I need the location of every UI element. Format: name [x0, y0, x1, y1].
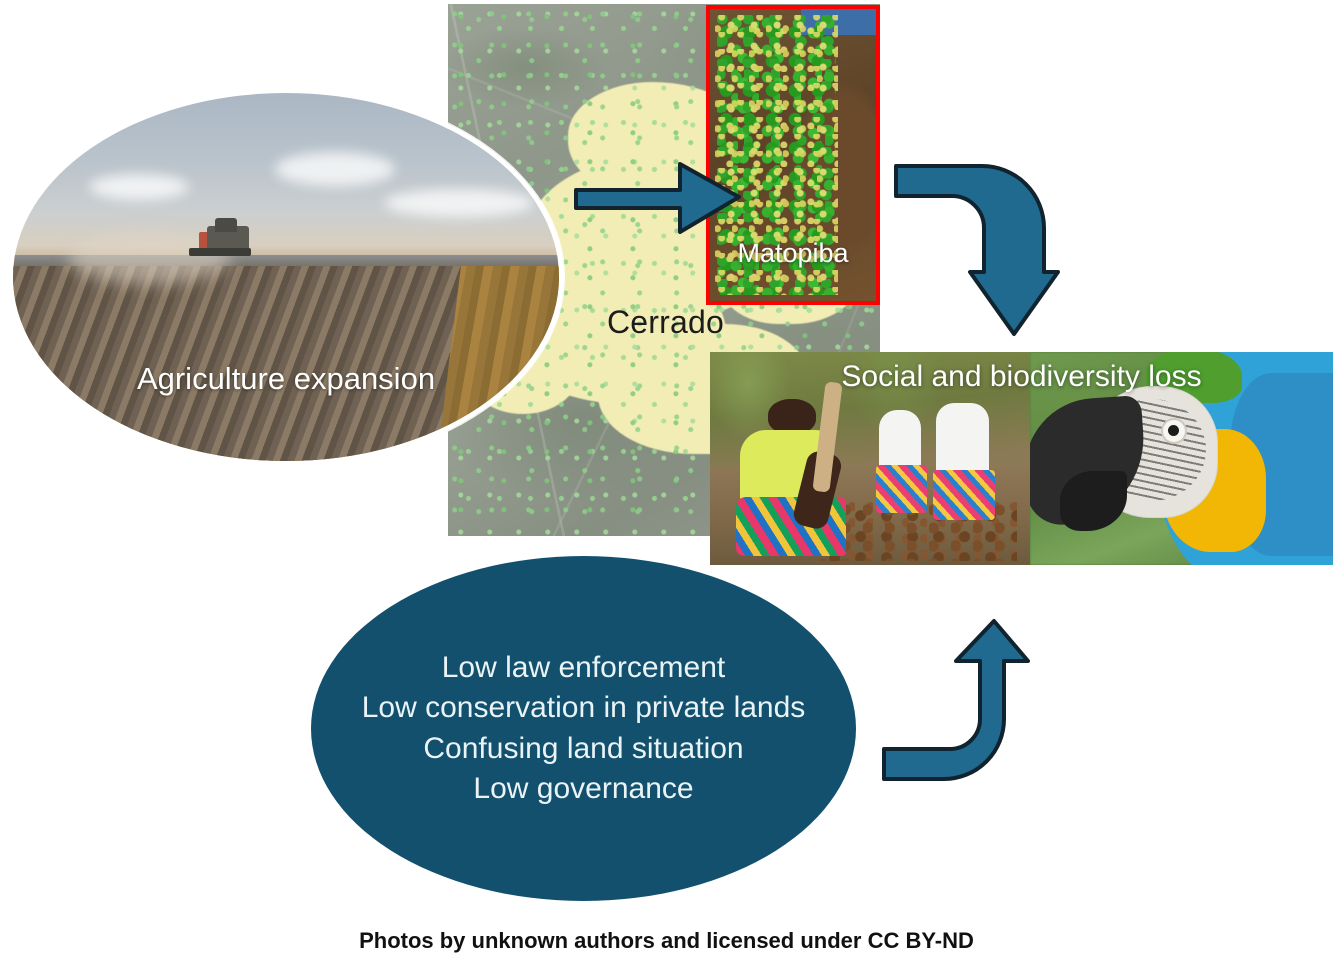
combine-harvester-icon: [199, 218, 265, 260]
agriculture-photo-ellipse: Agriculture expansion: [8, 88, 564, 466]
driver-line: Low conservation in private lands: [362, 688, 806, 729]
background-people: [876, 403, 1017, 522]
cerrado-label: Cerrado: [607, 304, 724, 341]
impacts-photo-pair: [710, 352, 1333, 565]
photo-credit-caption: Photos by unknown authors and licensed u…: [0, 928, 1333, 954]
driver-line: Low governance: [362, 769, 806, 810]
agriculture-expansion-label: Agriculture expansion: [13, 361, 559, 397]
social-loss-photo: [710, 352, 1030, 565]
arrow-right-down-icon: [890, 160, 1060, 340]
cloud-shape: [89, 174, 189, 200]
figure-canvas: Cerrado Agriculture expansion Matopiba: [0, 0, 1333, 976]
driver-line: Low law enforcement: [362, 648, 806, 689]
cloud-shape: [275, 152, 395, 186]
arrow-left-up-icon: [880, 615, 1030, 785]
cloud-shape: [384, 189, 534, 217]
drivers-ellipse: Low law enforcement Low conservation in …: [311, 556, 856, 901]
arrow-right-icon: [570, 150, 745, 240]
driver-line: Confusing land situation: [362, 729, 806, 770]
macaw-photo: [1030, 352, 1333, 565]
matopiba-label: Matopiba: [710, 238, 876, 269]
drivers-text-block: Low law enforcement Low conservation in …: [362, 648, 806, 810]
